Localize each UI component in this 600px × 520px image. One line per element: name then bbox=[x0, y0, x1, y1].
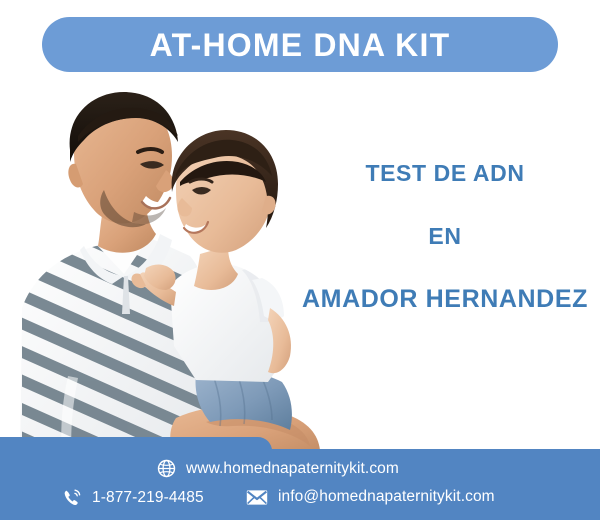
heading-line-1: TEST DE ADN bbox=[300, 160, 590, 187]
website-label: www.homednapaternitykit.com bbox=[186, 460, 399, 478]
poster-canvas: AT-HOME DNA KIT bbox=[0, 0, 600, 520]
page-title: AT-HOME DNA KIT bbox=[150, 29, 451, 61]
heading-line-3: AMADOR HERNANDEZ bbox=[300, 285, 590, 314]
footer-email-row[interactable]: info@homednapaternitykit.com bbox=[246, 488, 495, 506]
heading-block: TEST DE ADN EN AMADOR HERNANDEZ bbox=[300, 160, 590, 314]
phone-label: 1-877-219-4485 bbox=[92, 489, 204, 507]
heading-line-2: EN bbox=[300, 223, 590, 250]
family-photo bbox=[0, 78, 320, 460]
email-label: info@homednapaternitykit.com bbox=[278, 488, 495, 506]
header-pill: AT-HOME DNA KIT bbox=[42, 17, 558, 72]
footer-phone-row[interactable]: 1-877-219-4485 bbox=[62, 488, 204, 508]
globe-icon bbox=[157, 459, 176, 478]
phone-icon bbox=[62, 488, 82, 508]
footer-website-row[interactable]: www.homednapaternitykit.com bbox=[157, 459, 399, 478]
envelope-icon bbox=[246, 489, 268, 506]
